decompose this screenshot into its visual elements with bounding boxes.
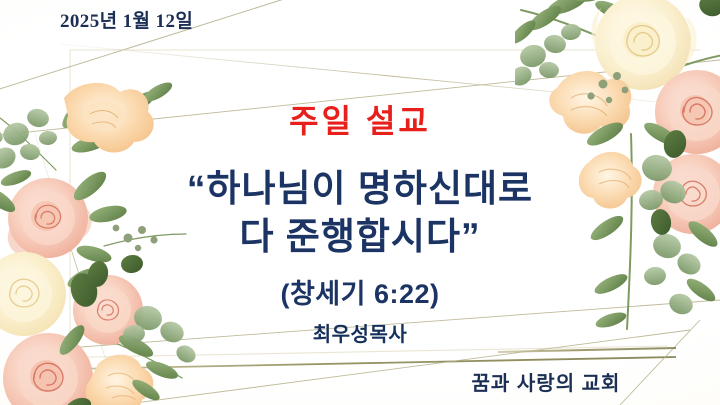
preacher-name: 최우성목사 bbox=[0, 318, 720, 347]
olive-leaves-right-top bbox=[515, 0, 629, 47]
church-name: 꿈과 사랑의 교회 bbox=[0, 367, 720, 396]
cream-rose-right bbox=[591, 0, 696, 90]
sermon-slide: 2025년 1월 12일 주일 설교 “하나님이 명하신대로 다 준행합시다” … bbox=[0, 0, 720, 405]
scripture-reference: (창세기 6:22) bbox=[0, 272, 720, 311]
sermon-title-line-1: “하나님이 명하신대로 bbox=[0, 158, 720, 212]
sermon-title-line-2: 다 준행합시다” bbox=[0, 206, 720, 260]
eucalyptus-sprig-right-top bbox=[515, 23, 582, 89]
sermon-kicker: 주일 설교 bbox=[0, 96, 720, 142]
date-label: 2025년 1월 12일 bbox=[60, 6, 193, 33]
